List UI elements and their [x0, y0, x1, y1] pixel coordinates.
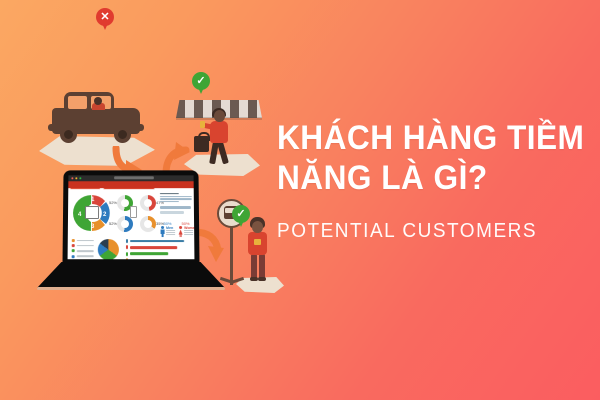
- cycle-diagram: 1 2 3 4: [72, 193, 112, 233]
- gender-stat-women: 50% Women: [178, 221, 193, 226]
- laptop-base-lip: [37, 287, 225, 290]
- donut-hole: [144, 220, 152, 228]
- text-block: KHÁCH HÀNG TIỀM NĂNG LÀ GÌ? POTENTIAL CU…: [277, 118, 577, 243]
- legend-label: [76, 245, 94, 246]
- analytics-dashboard: 1 2 3 4 52% 47%: [68, 189, 195, 259]
- legend-swatch: [72, 244, 75, 247]
- donut-chart-4: 35%: [140, 216, 156, 232]
- text-line: [160, 196, 192, 197]
- pin-glyph: ✓: [232, 205, 250, 223]
- men-detail-lines: [166, 230, 175, 235]
- bar-tick: [126, 258, 128, 259]
- waiting-person-head: [252, 221, 263, 233]
- male-figure-icon: [160, 226, 165, 237]
- donut-chart-2: 47%: [140, 195, 156, 211]
- bar-tick: [126, 239, 128, 243]
- legend-swatch: [72, 255, 75, 258]
- cycle-step-2: 2: [103, 212, 106, 218]
- bar-fill: [130, 240, 184, 243]
- waiting-person-leg-left: [251, 254, 257, 279]
- legend-swatch: [72, 250, 75, 253]
- bar-tick: [126, 252, 128, 256]
- pin-glyph: ✓: [192, 72, 210, 90]
- car-scene: [36, 84, 166, 174]
- waiting-person-shoe-left: [250, 277, 258, 281]
- bar-row: [126, 252, 190, 256]
- bar-chart: [126, 239, 191, 259]
- browser-toolbar: [68, 181, 193, 188]
- window-title: [114, 176, 154, 179]
- car-wheel-rear: [114, 126, 131, 143]
- laptop-base: [37, 262, 225, 288]
- donut-value-1: 52%: [108, 200, 117, 205]
- legend-item: [72, 244, 94, 247]
- donut-hole: [144, 199, 152, 207]
- bar-row: [126, 245, 190, 249]
- legend-label: [76, 250, 94, 251]
- cycle-step-1: 1: [91, 197, 94, 203]
- close-icon[interactable]: [71, 177, 73, 179]
- progress-bar-primary: [160, 206, 191, 209]
- headline-line-2: NĂNG LÀ GÌ?: [277, 158, 556, 198]
- headline-line-1: KHÁCH HÀNG TIỀM: [277, 118, 556, 158]
- car-wheel-front: [60, 126, 77, 143]
- legend-label: [76, 240, 94, 241]
- waiting-person-pocket: [254, 239, 261, 245]
- donut-hole: [121, 220, 129, 228]
- donut-chart-3: 52%: [117, 216, 133, 232]
- driver-head: [94, 97, 102, 105]
- donut-hole: [121, 199, 129, 207]
- progress-bar-secondary: [160, 211, 184, 214]
- laptop-screen: 1 2 3 4 52% 47%: [68, 175, 195, 259]
- bar-fill: [130, 246, 177, 249]
- subheadline: POTENTIAL CUSTOMERS: [277, 220, 562, 243]
- cycle-center-box: [85, 206, 99, 219]
- minimize-icon[interactable]: [75, 177, 77, 179]
- laptop: 1 2 3 4 52% 47%: [30, 170, 230, 300]
- phone-icon: [200, 121, 205, 128]
- bar-row: [126, 258, 190, 259]
- pin-glyph: ✕: [96, 8, 114, 26]
- legend-item: [72, 255, 94, 258]
- text-line: [160, 198, 192, 199]
- poster-canvas: ✕ ✓: [0, 0, 600, 400]
- donut-value-3: 52%: [108, 221, 117, 226]
- maximize-icon[interactable]: [79, 177, 81, 179]
- check-mark-icon: ✓: [232, 205, 250, 229]
- check-mark-icon: ✓: [192, 72, 210, 96]
- legend-item: [72, 250, 94, 253]
- bar-fill: [130, 253, 168, 256]
- gender-stat-men: 50% Men: [160, 221, 175, 226]
- legend-swatch: [72, 239, 75, 242]
- women-detail-lines: [184, 230, 193, 235]
- female-figure-icon: [178, 226, 183, 237]
- shopper-head: [214, 110, 225, 122]
- text-line: [160, 193, 179, 194]
- waiting-person-shoe-right: [258, 277, 266, 281]
- legend-item: [72, 239, 94, 242]
- mobile-phone-icon: [130, 206, 137, 218]
- car-window-front: [68, 96, 87, 109]
- cycle-step-3: 3: [91, 224, 94, 230]
- text-line: [160, 201, 179, 202]
- legend-label: [76, 256, 94, 257]
- bar-tick: [126, 245, 128, 249]
- waiting-person-leg-right: [259, 254, 265, 279]
- dashboard-text-block: [160, 193, 192, 204]
- pie-chart: [98, 239, 119, 259]
- cycle-step-4: 4: [78, 212, 81, 218]
- chart-legend: [72, 239, 94, 259]
- x-mark-icon: ✕: [96, 8, 114, 32]
- shopping-bag-icon: [194, 136, 209, 152]
- laptop-lid: 1 2 3 4 52% 47%: [62, 170, 199, 264]
- bar-row: [126, 239, 190, 243]
